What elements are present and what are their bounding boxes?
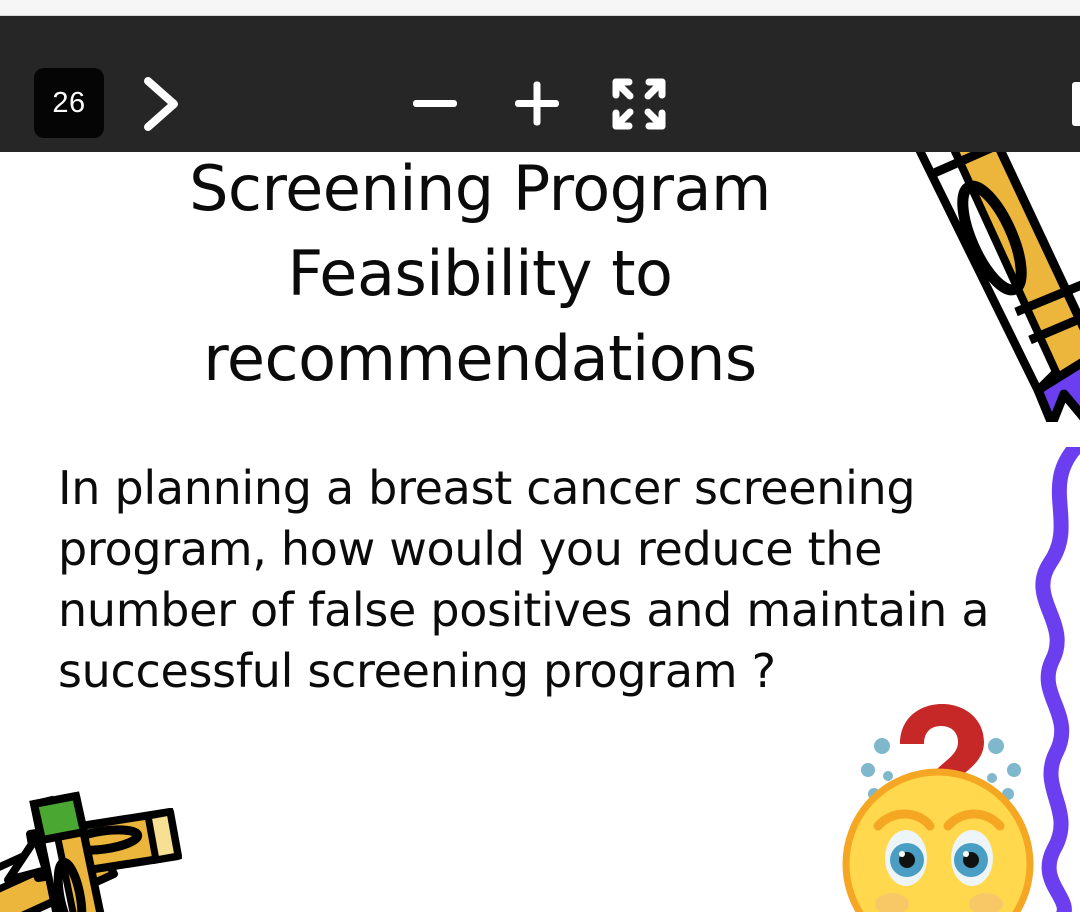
- slide-title: Screening Program Feasibility to recomme…: [0, 152, 960, 401]
- slide-viewer-app: 26: [0, 0, 1080, 912]
- plus-icon: [515, 82, 559, 126]
- viewer-toolbar: 26: [0, 16, 1080, 152]
- squiggle-border-icon: [1032, 447, 1080, 912]
- top-strip: [0, 0, 1080, 16]
- next-page-button[interactable]: [132, 71, 190, 137]
- slide-canvas: Screening Program Feasibility to recomme…: [0, 152, 1080, 912]
- chevron-right-icon: [148, 81, 174, 127]
- page-number-badge[interactable]: 26: [34, 68, 104, 138]
- zoom-in-button[interactable]: [507, 74, 567, 134]
- zoom-out-button[interactable]: [405, 76, 465, 132]
- pencils-bottom-left-icon: [0, 778, 242, 912]
- fullscreen-expand-icon: [616, 82, 662, 126]
- toolbar-right-button[interactable]: [1072, 82, 1080, 126]
- slide-body-text: In planning a breast cancer screening pr…: [58, 458, 993, 702]
- fullscreen-button[interactable]: [608, 74, 670, 134]
- confused-emoji-icon: [838, 698, 1038, 912]
- minus-icon: [413, 100, 457, 107]
